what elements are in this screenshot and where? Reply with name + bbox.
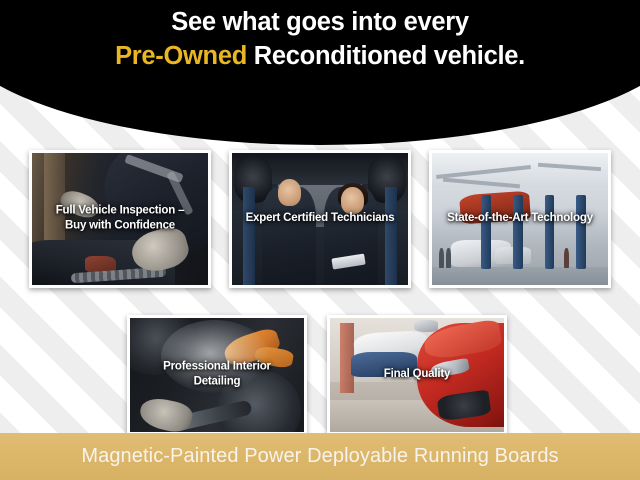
bottom-banner: Magnetic-Painted Power Deployable Runnin…	[0, 433, 640, 480]
headline-line-2: Pre-Owned Reconditioned vehicle.	[115, 40, 525, 72]
card-image-5: Final Quality	[330, 318, 504, 432]
card-label-5: Final Quality	[330, 367, 504, 382]
feature-card-state-of-the-art-technology[interactable]: State-of-the-Art Technology	[429, 150, 611, 288]
feature-card-expert-certified-technicians[interactable]: Expert Certified Technicians	[229, 150, 411, 288]
card-image-1: Full Vehicle Inspection – Buy with Confi…	[32, 153, 208, 285]
feature-card-final-quality[interactable]: Final Quality	[327, 315, 507, 435]
bottom-banner-text: Magnetic-Painted Power Deployable Runnin…	[81, 445, 558, 468]
card-image-3: State-of-the-Art Technology	[432, 153, 608, 285]
card-image-4: Professional Interior Detailing	[130, 318, 304, 432]
card-label-4: Professional Interior Detailing	[130, 359, 304, 389]
headline-line-2-rest: Reconditioned vehicle.	[247, 42, 525, 70]
feature-card-professional-interior-detailing[interactable]: Professional Interior Detailing	[127, 315, 307, 435]
card-label-1: Full Vehicle Inspection – Buy with Confi…	[32, 203, 208, 233]
card-image-2: Expert Certified Technicians	[232, 153, 408, 285]
header-black-banner: See what goes into every Pre-Owned Recon…	[0, 0, 640, 145]
promo-graphic: See what goes into every Pre-Owned Recon…	[0, 0, 640, 480]
card-label-3: State-of-the-Art Technology	[432, 211, 608, 226]
headline-line-1: See what goes into every	[171, 6, 469, 38]
feature-card-full-vehicle-inspection[interactable]: Full Vehicle Inspection – Buy with Confi…	[29, 150, 211, 288]
headline-accent-pre-owned: Pre-Owned	[115, 42, 247, 70]
card-label-2: Expert Certified Technicians	[232, 211, 408, 226]
